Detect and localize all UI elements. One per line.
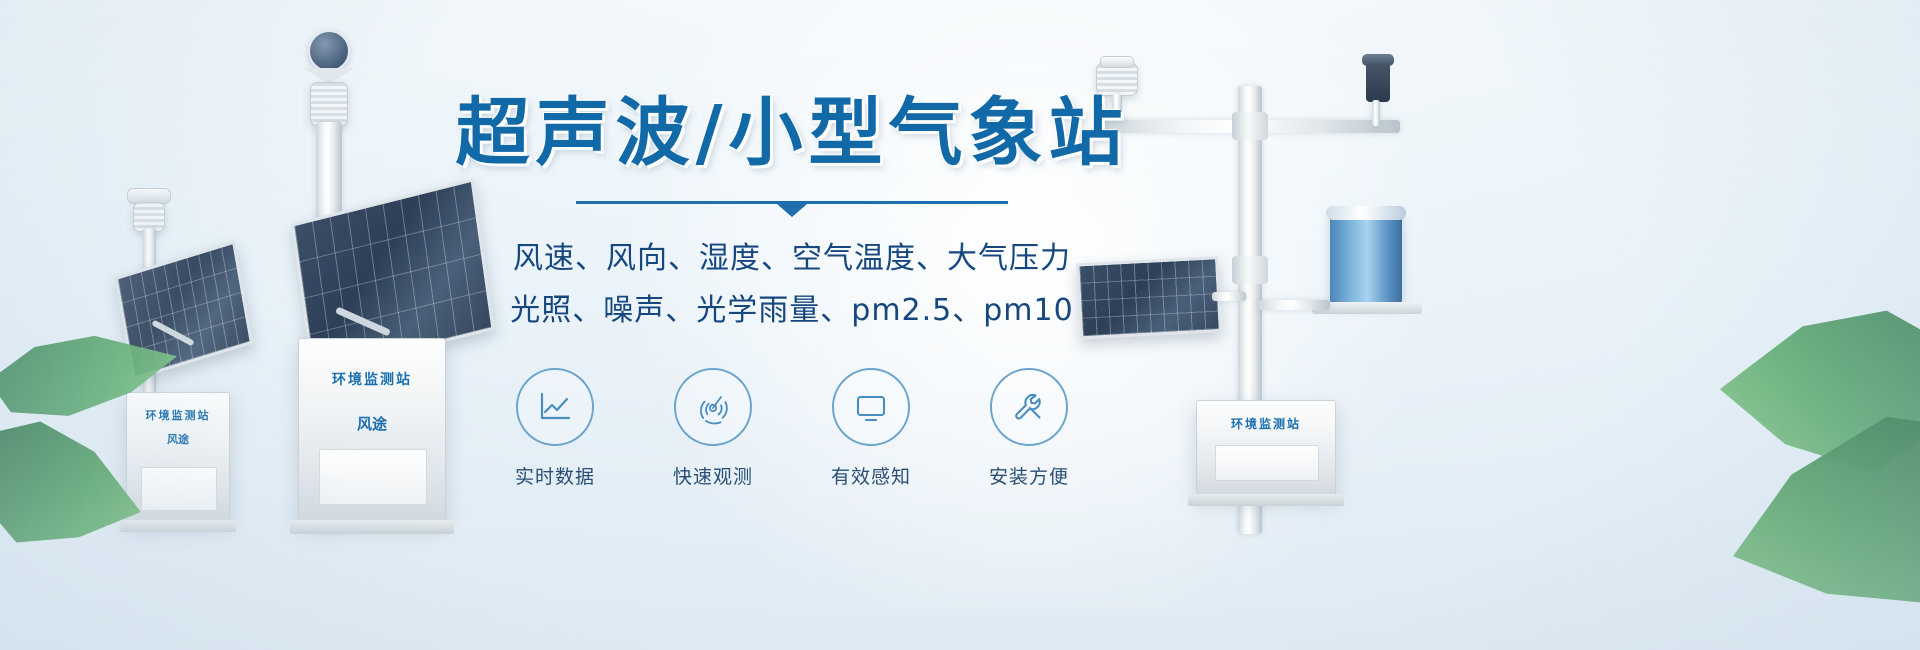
feature-label: 快速观测 bbox=[658, 462, 768, 489]
feature-item-effective-sensing[interactable]: 有效感知 bbox=[816, 368, 926, 489]
feature-label: 安装方便 bbox=[974, 462, 1084, 489]
divider bbox=[576, 201, 1008, 213]
wrench-tool-icon bbox=[1008, 386, 1050, 428]
line-chart-icon bbox=[535, 387, 575, 427]
feature-label: 有效感知 bbox=[816, 462, 926, 489]
banner-stage: 环境监测站 风途 环境监测站 风途 bbox=[0, 0, 1920, 650]
feature-item-realtime-data[interactable]: 实时数据 bbox=[500, 368, 610, 489]
monitor-display-icon bbox=[850, 386, 892, 428]
feature-icon-ring bbox=[674, 368, 752, 446]
down-triangle-icon bbox=[777, 204, 807, 217]
banner-content: 超声波/小型气象站 风速、风向、湿度、空气温度、大气压力 光照、噪声、光学雨量、… bbox=[432, 96, 1152, 566]
feature-list: 实时数据 快 bbox=[432, 368, 1152, 489]
feature-icon-ring bbox=[990, 368, 1068, 446]
subtitle-line-1: 风速、风向、湿度、空气温度、大气压力 bbox=[432, 235, 1152, 282]
feature-item-fast-observation[interactable]: 快速观测 bbox=[658, 368, 768, 489]
subtitle-line-2: 光照、噪声、光学雨量、pm2.5、pm10 bbox=[432, 287, 1152, 334]
page-title: 超声波/小型气象站 bbox=[432, 96, 1152, 171]
feature-icon-ring bbox=[832, 368, 910, 446]
radar-signal-icon bbox=[692, 386, 734, 428]
feature-icon-ring bbox=[516, 368, 594, 446]
feature-item-easy-install[interactable]: 安装方便 bbox=[974, 368, 1084, 489]
feature-label: 实时数据 bbox=[500, 462, 610, 489]
